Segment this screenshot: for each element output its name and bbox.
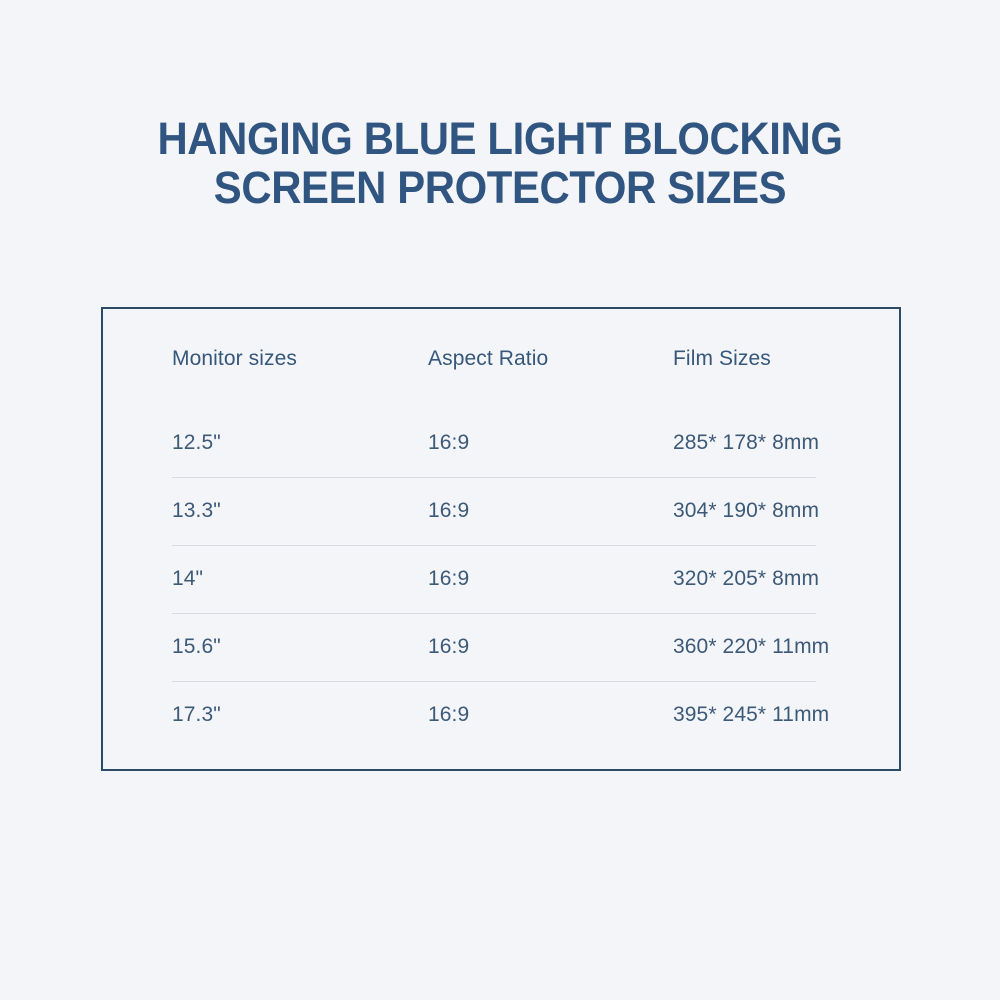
cell-aspect-ratio: 16:9 xyxy=(428,567,673,591)
cell-aspect-ratio: 16:9 xyxy=(428,635,673,659)
cell-monitor-size: 17.3" xyxy=(172,703,428,727)
cell-film-size: 395* 245* 11mm xyxy=(673,703,830,727)
cell-monitor-size: 14" xyxy=(172,567,428,591)
cell-film-size: 360* 220* 11mm xyxy=(673,635,830,659)
cell-monitor-size: 13.3" xyxy=(172,499,428,523)
column-header-film-sizes: Film Sizes xyxy=(673,347,830,371)
cell-aspect-ratio: 16:9 xyxy=(428,499,673,523)
cell-film-size: 285* 178* 8mm xyxy=(673,431,830,455)
column-header-aspect-ratio: Aspect Ratio xyxy=(428,347,673,371)
table-row: 14" 16:9 320* 205* 8mm xyxy=(172,545,830,613)
table-header-row: Monitor sizes Aspect Ratio Film Sizes xyxy=(172,309,830,409)
cell-aspect-ratio: 16:9 xyxy=(428,703,673,727)
page-title: HANGING BLUE LIGHT BLOCKING SCREEN PROTE… xyxy=(0,114,1000,212)
cell-film-size: 304* 190* 8mm xyxy=(673,499,830,523)
table-row: 17.3" 16:9 395* 245* 11mm xyxy=(172,681,830,749)
page-title-line-2: SCREEN PROTECTOR SIZES xyxy=(35,163,965,212)
cell-monitor-size: 15.6" xyxy=(172,635,428,659)
size-table-card: Monitor sizes Aspect Ratio Film Sizes 12… xyxy=(101,307,901,771)
size-table: Monitor sizes Aspect Ratio Film Sizes 12… xyxy=(103,309,899,769)
column-header-monitor-sizes: Monitor sizes xyxy=(172,347,428,371)
cell-aspect-ratio: 16:9 xyxy=(428,431,673,455)
cell-monitor-size: 12.5" xyxy=(172,431,428,455)
table-row: 12.5" 16:9 285* 178* 8mm xyxy=(172,409,830,477)
product-size-chart-page: HANGING BLUE LIGHT BLOCKING SCREEN PROTE… xyxy=(0,0,1000,1000)
table-row: 15.6" 16:9 360* 220* 11mm xyxy=(172,613,830,681)
cell-film-size: 320* 205* 8mm xyxy=(673,567,830,591)
table-row: 13.3" 16:9 304* 190* 8mm xyxy=(172,477,830,545)
page-title-line-1: HANGING BLUE LIGHT BLOCKING xyxy=(35,114,965,163)
